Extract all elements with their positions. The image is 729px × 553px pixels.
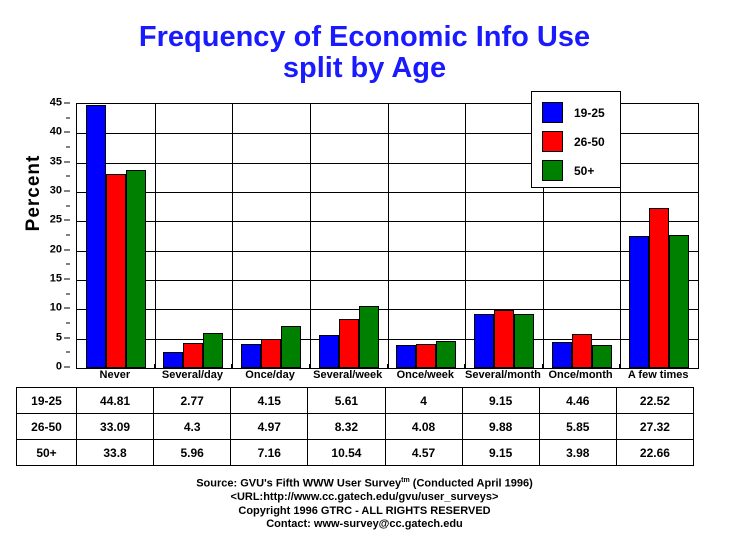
bar bbox=[514, 314, 534, 368]
bar bbox=[649, 208, 669, 368]
table-row-header: 19-25 bbox=[17, 388, 77, 414]
table-row: 50+33.85.967.1610.544.579.153.9822.66 bbox=[17, 440, 694, 466]
bar bbox=[552, 342, 572, 368]
legend-color-swatch bbox=[542, 160, 563, 181]
bar bbox=[474, 314, 494, 368]
footer-copyright-line: Copyright 1996 GTRC - ALL RIGHTS RESERVE… bbox=[0, 505, 729, 519]
y-axis-minor-tick bbox=[66, 264, 70, 265]
table-cell: 33.09 bbox=[77, 414, 154, 440]
table-cell: 5.61 bbox=[308, 388, 385, 414]
bar bbox=[86, 105, 106, 368]
table-cell: 4.15 bbox=[231, 388, 308, 414]
table-cell: 9.15 bbox=[462, 440, 539, 466]
y-axis-minor-tick bbox=[66, 323, 70, 324]
y-axis-minor-tick bbox=[66, 352, 70, 353]
footer: Source: GVU's Fifth WWW User Surveytm (C… bbox=[0, 474, 729, 532]
x-axis-tick-label: Several/month bbox=[465, 369, 541, 382]
table-cell: 4.97 bbox=[231, 414, 308, 440]
table-cell: 4.08 bbox=[385, 414, 462, 440]
table-cell: 9.15 bbox=[462, 388, 539, 414]
legend-color-swatch bbox=[542, 131, 563, 152]
y-axis-tick-mark bbox=[64, 249, 70, 250]
y-axis-tick-mark bbox=[64, 279, 70, 280]
x-axis-tick-mark bbox=[619, 364, 620, 369]
x-axis-tick-label: Several/day bbox=[162, 369, 223, 382]
footer-contact-line: Contact: www-survey@cc.gatech.edu bbox=[0, 518, 729, 532]
data-table: 19-2544.812.774.155.6149.154.4622.5226-5… bbox=[16, 387, 694, 466]
x-axis-tick-label: Once/month bbox=[548, 369, 612, 382]
trademark-superscript: tm bbox=[401, 477, 410, 484]
bar-group bbox=[310, 104, 388, 368]
y-axis-tick-label: 0 bbox=[56, 362, 62, 373]
table-cell: 5.85 bbox=[539, 414, 616, 440]
footer-source-text: Source: GVU's Fifth WWW User Survey bbox=[196, 478, 401, 490]
table-cell: 10.54 bbox=[308, 440, 385, 466]
x-axis-tick-mark bbox=[542, 364, 543, 369]
y-axis-minor-tick bbox=[66, 147, 70, 148]
bar bbox=[572, 334, 592, 368]
y-axis-tick-mark bbox=[64, 161, 70, 162]
legend-item-label: 19-25 bbox=[574, 107, 605, 119]
chart-title-line-1: Frequency of Economic Info Use bbox=[0, 22, 729, 53]
legend-color-swatch bbox=[542, 102, 563, 123]
bar bbox=[241, 344, 261, 368]
bar-group-bars bbox=[620, 104, 698, 368]
bar-group bbox=[388, 104, 466, 368]
y-axis-tick-mark bbox=[64, 103, 70, 104]
table-cell: 3.98 bbox=[539, 440, 616, 466]
bar-group-bars bbox=[77, 104, 155, 368]
x-axis-tick-mark bbox=[387, 364, 388, 369]
table-cell: 9.88 bbox=[462, 414, 539, 440]
bar-group-bars bbox=[388, 104, 466, 368]
bar bbox=[592, 345, 612, 368]
bar bbox=[163, 352, 183, 368]
bar bbox=[359, 306, 379, 368]
legend-item: 19-25 bbox=[542, 98, 620, 127]
bar bbox=[436, 341, 456, 368]
x-axis-tick-mark bbox=[309, 364, 310, 369]
bar bbox=[494, 310, 514, 368]
bar bbox=[203, 333, 223, 368]
bar bbox=[126, 170, 146, 368]
page-title: Frequency of Economic Info Use split by … bbox=[0, 22, 729, 84]
legend-item-label: 50+ bbox=[574, 165, 594, 177]
y-axis-tick-label: 25 bbox=[50, 215, 62, 226]
bar-group bbox=[77, 104, 155, 368]
bar bbox=[261, 339, 281, 368]
footer-source-line: Source: GVU's Fifth WWW User Surveytm (C… bbox=[0, 474, 729, 491]
y-axis-tick-mark bbox=[64, 191, 70, 192]
y-axis-minor-tick bbox=[66, 117, 70, 118]
bar bbox=[183, 343, 203, 368]
table-cell: 4.3 bbox=[154, 414, 231, 440]
y-axis-tick-label: 35 bbox=[50, 156, 62, 167]
legend-item: 50+ bbox=[542, 156, 620, 185]
y-axis-tick-label: 20 bbox=[50, 244, 62, 255]
chart-legend: 19-2526-5050+ bbox=[531, 91, 621, 188]
bar bbox=[106, 174, 126, 368]
x-axis-tick-label: Several/week bbox=[313, 369, 382, 382]
table-cell: 44.81 bbox=[77, 388, 154, 414]
footer-url-line: <URL:http://www.cc.gatech.edu/gvu/user_s… bbox=[0, 491, 729, 505]
bar-group-bars bbox=[310, 104, 388, 368]
y-axis-tick-label: 5 bbox=[56, 332, 62, 343]
table-cell: 4.46 bbox=[539, 388, 616, 414]
table-cell: 22.52 bbox=[616, 388, 693, 414]
x-axis-tick-label: Once/day bbox=[245, 369, 295, 382]
x-axis-tick-mark bbox=[154, 364, 155, 369]
bar bbox=[669, 235, 689, 368]
bar-group-bars bbox=[155, 104, 233, 368]
x-axis-tick-label: A few times bbox=[628, 369, 689, 382]
data-table-body: 19-2544.812.774.155.6149.154.4622.5226-5… bbox=[17, 388, 694, 466]
x-axis: NeverSeveral/dayOnce/daySeveral/weekOnce… bbox=[76, 369, 697, 385]
x-axis-tick-label: Never bbox=[100, 369, 131, 382]
table-cell: 27.32 bbox=[616, 414, 693, 440]
bar-group bbox=[155, 104, 233, 368]
y-axis-tick-mark bbox=[64, 132, 70, 133]
table-cell: 5.96 bbox=[154, 440, 231, 466]
y-axis-tick-mark bbox=[64, 220, 70, 221]
y-axis-tick-mark bbox=[64, 308, 70, 309]
table-row: 26-5033.094.34.978.324.089.885.8527.32 bbox=[17, 414, 694, 440]
y-axis-tick-label: 15 bbox=[50, 274, 62, 285]
bar bbox=[319, 335, 339, 368]
y-axis-title: Percent bbox=[23, 133, 45, 253]
table-cell: 4 bbox=[385, 388, 462, 414]
table-cell: 8.32 bbox=[308, 414, 385, 440]
legend-item-label: 26-50 bbox=[574, 136, 605, 148]
y-axis-tick-mark bbox=[64, 367, 70, 368]
table-cell: 2.77 bbox=[154, 388, 231, 414]
table-cell: 7.16 bbox=[231, 440, 308, 466]
bar bbox=[629, 236, 649, 368]
y-axis-tick-label: 40 bbox=[50, 127, 62, 138]
x-axis-tick-mark bbox=[231, 364, 232, 369]
table-row: 19-2544.812.774.155.6149.154.4622.52 bbox=[17, 388, 694, 414]
bar bbox=[416, 344, 436, 368]
y-axis-tick-label: 10 bbox=[50, 303, 62, 314]
table-row-header: 26-50 bbox=[17, 414, 77, 440]
y-axis-tick-label: 30 bbox=[50, 186, 62, 197]
y-axis-minor-tick bbox=[66, 293, 70, 294]
y-axis-minor-tick bbox=[66, 205, 70, 206]
bar bbox=[396, 345, 416, 368]
table-row-header: 50+ bbox=[17, 440, 77, 466]
footer-source-date: (Conducted April 1996) bbox=[410, 478, 533, 490]
bar bbox=[339, 319, 359, 368]
table-cell: 33.8 bbox=[77, 440, 154, 466]
legend-item: 26-50 bbox=[542, 127, 620, 156]
bar bbox=[281, 326, 301, 368]
bar-group bbox=[232, 104, 310, 368]
y-axis-tick-mark bbox=[64, 337, 70, 338]
x-axis-tick-label: Once/week bbox=[397, 369, 454, 382]
table-cell: 22.66 bbox=[616, 440, 693, 466]
table-cell: 4.57 bbox=[385, 440, 462, 466]
chart-title-line-2: split by Age bbox=[0, 53, 729, 84]
y-axis-minor-tick bbox=[66, 176, 70, 177]
bar-group bbox=[620, 104, 698, 368]
y-axis-minor-tick bbox=[66, 235, 70, 236]
bar-group-bars bbox=[232, 104, 310, 368]
y-axis-tick-label: 45 bbox=[50, 98, 62, 109]
